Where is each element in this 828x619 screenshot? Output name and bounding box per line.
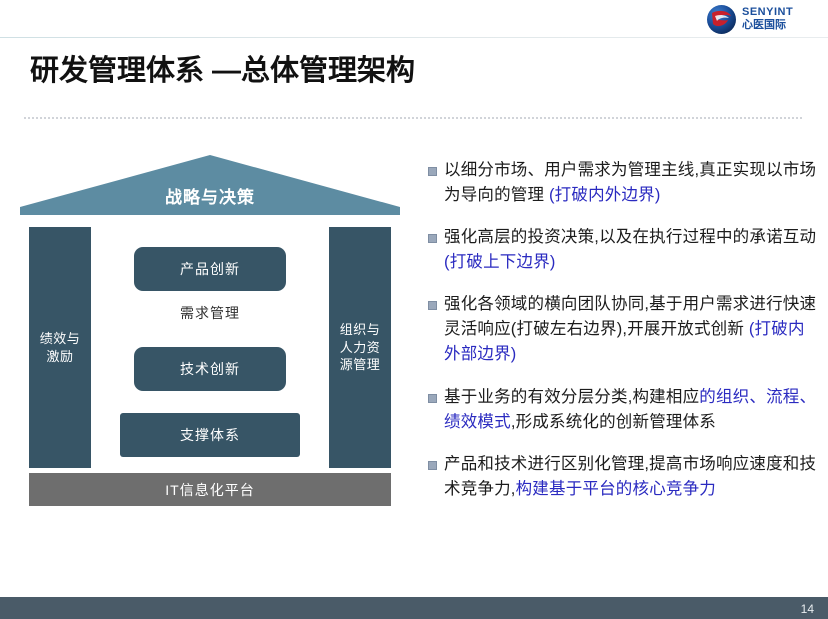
bullet-square-icon — [428, 394, 444, 403]
bullet-item: 产品和技术进行区别化管理,提高市场响应速度和技术竞争力,构建基于平台的核心竞争力 — [428, 452, 820, 502]
bullet-list: 以细分市场、用户需求为管理主线,真正实现以市场为导向的管理 (打破内外边界)强化… — [428, 158, 820, 519]
pillar-right-label: 组织与 人力资 源管理 — [340, 321, 381, 374]
logo-chinese-text: 心医国际 — [742, 20, 793, 31]
base-it-platform: IT信息化平台 — [29, 473, 391, 506]
box-technology-innovation: 技术创新 — [134, 347, 286, 391]
senyint-logo: SENYINT 心医国际 — [706, 3, 818, 35]
logo-english-text: SENYINT — [742, 7, 793, 18]
bullet-highlight-text: 构建基于平台的核心竞争力 — [516, 480, 716, 498]
bullet-square-icon — [428, 301, 444, 310]
bullet-item: 基于业务的有效分层分类,构建相应的组织、流程、绩效模式,形成系统化的创新管理体系 — [428, 385, 820, 435]
bullet-text: 强化高层的投资决策,以及在执行过程中的承诺互动 (打破上下边界) — [444, 225, 820, 275]
bullet-item: 以细分市场、用户需求为管理主线,真正实现以市场为导向的管理 (打破内外边界) — [428, 158, 820, 208]
bullet-square-icon — [428, 234, 444, 243]
page-number: 14 — [801, 602, 814, 616]
slide-canvas: SENYINT 心医国际 研发管理体系 —总体管理架构 战略与决策 绩效与 激励… — [0, 0, 828, 619]
center-column: 产品创新 需求管理 技术创新 支撑体系 — [106, 227, 314, 468]
bullet-text: 强化各领域的横向团队协同,基于用户需求进行快速灵活响应(打破左右边界),开展开放… — [444, 292, 820, 367]
footer-bar: 14 — [0, 597, 828, 619]
title-underline-divider — [24, 117, 804, 119]
pillar-left-label: 绩效与 激励 — [40, 330, 81, 365]
roof-label: 战略与决策 — [20, 183, 400, 208]
logo-swoosh-icon — [706, 4, 737, 35]
box-support-system: 支撑体系 — [120, 413, 300, 457]
pillar-right-organization: 组织与 人力资 源管理 — [329, 227, 391, 468]
bullet-plain-text: 强化高层的投资决策,以及在执行过程中的承诺互动 — [444, 228, 816, 246]
bullet-text: 产品和技术进行区别化管理,提高市场响应速度和技术竞争力,构建基于平台的核心竞争力 — [444, 452, 820, 502]
page-title: 研发管理体系 —总体管理架构 — [30, 47, 415, 89]
box-product-innovation: 产品创新 — [134, 247, 286, 291]
bullet-text: 以细分市场、用户需求为管理主线,真正实现以市场为导向的管理 (打破内外边界) — [444, 158, 820, 208]
bullet-highlight-text: (打破上下边界) — [444, 253, 556, 271]
bullet-plain-text: ,形成系统化的创新管理体系 — [511, 413, 716, 431]
label-demand-management: 需求管理 — [106, 303, 314, 323]
bullet-square-icon — [428, 461, 444, 470]
management-architecture-diagram: 战略与决策 绩效与 激励 组织与 人力资 源管理 产品创新 需求管理 技术创新 … — [20, 155, 400, 505]
bullet-text: 基于业务的有效分层分类,构建相应的组织、流程、绩效模式,形成系统化的创新管理体系 — [444, 385, 820, 435]
bullet-item: 强化各领域的横向团队协同,基于用户需求进行快速灵活响应(打破左右边界),开展开放… — [428, 292, 820, 367]
bullet-square-icon — [428, 167, 444, 176]
roof-shape: 战略与决策 — [20, 155, 400, 215]
bullet-highlight-text: (打破内外边界) — [549, 186, 661, 204]
pillar-left-performance: 绩效与 激励 — [29, 227, 91, 468]
bullet-item: 强化高层的投资决策,以及在执行过程中的承诺互动 (打破上下边界) — [428, 225, 820, 275]
logo-wordmark: SENYINT 心医国际 — [742, 7, 793, 31]
bullet-plain-text: 基于业务的有效分层分类,构建相应 — [444, 388, 699, 406]
header-divider — [0, 37, 828, 38]
